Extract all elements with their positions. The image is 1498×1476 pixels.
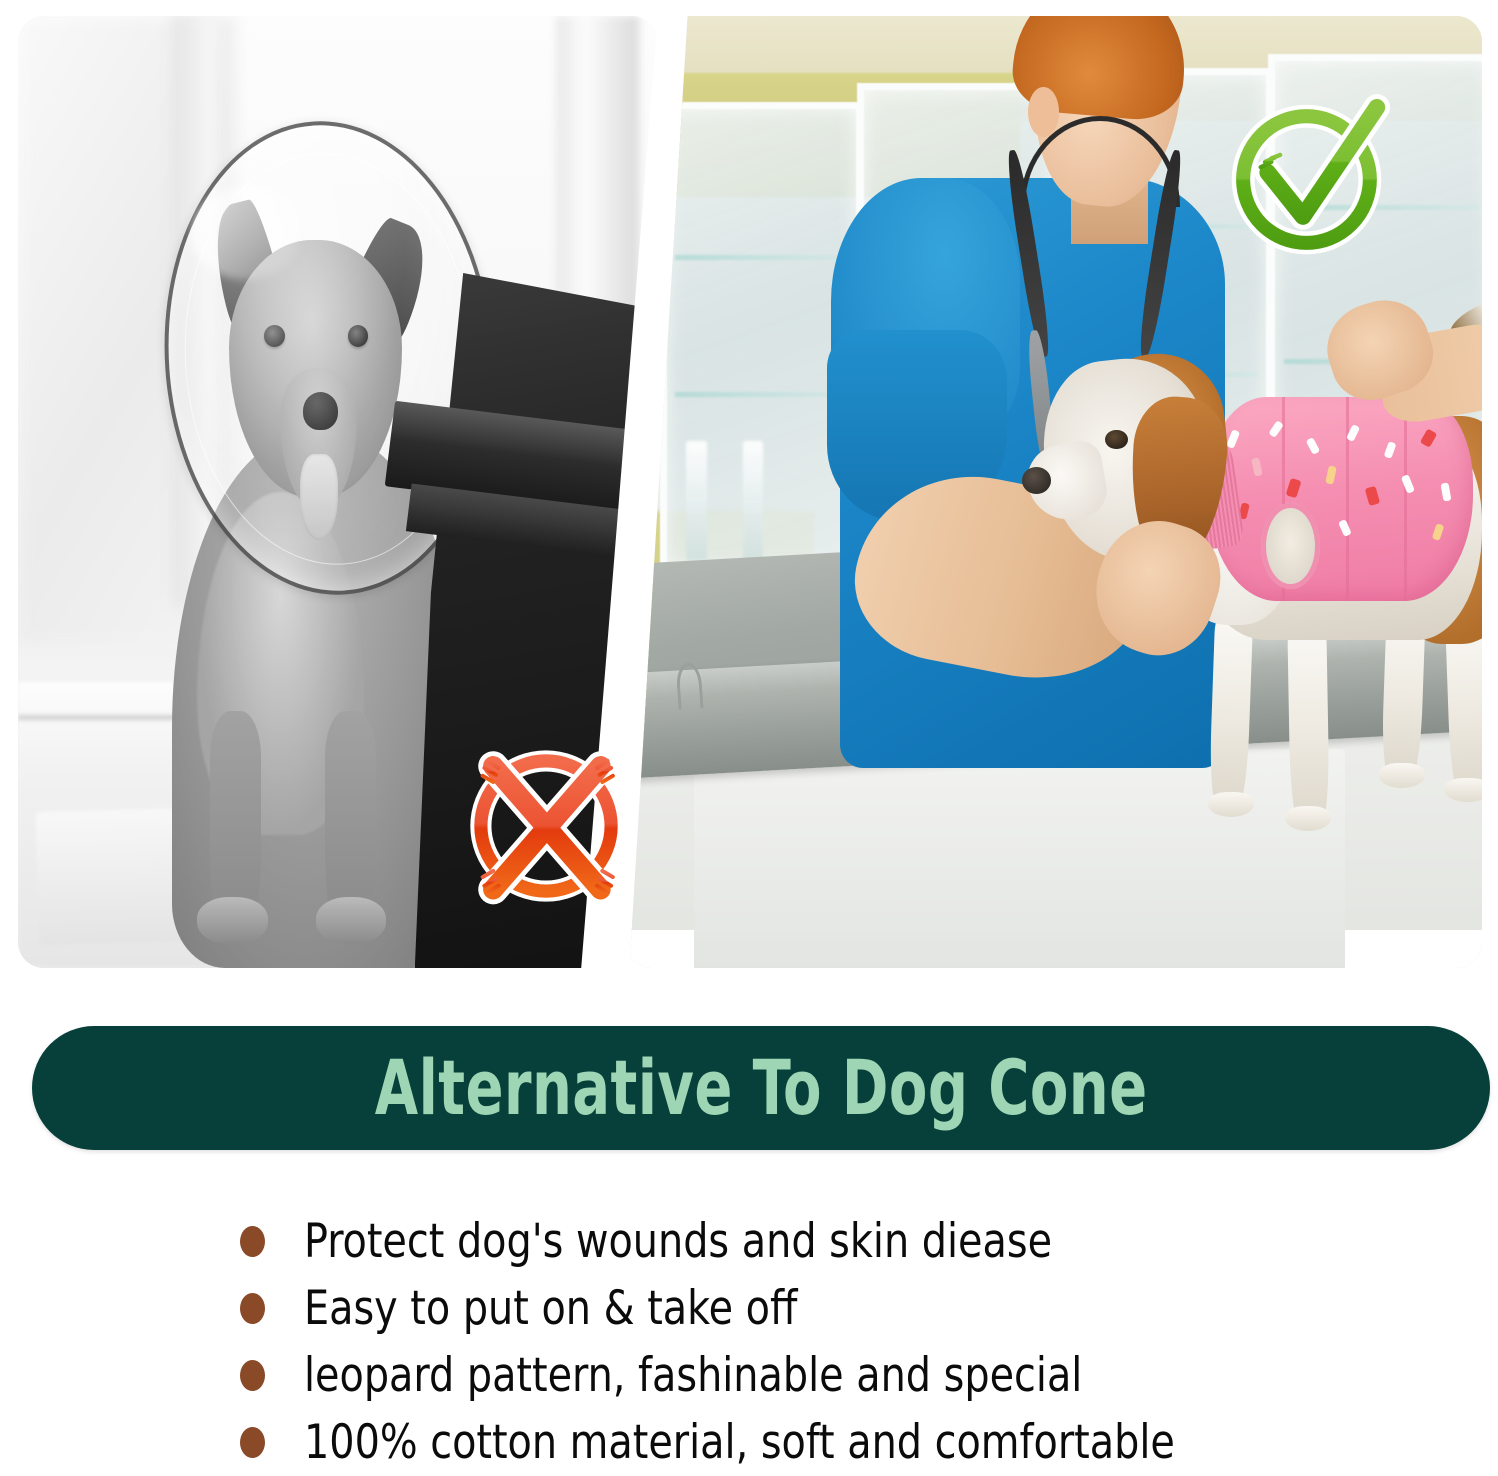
dog-paw-left: [197, 897, 267, 945]
pink-recovery-suit: [1208, 397, 1473, 602]
cross-x-badge: [458, 738, 634, 914]
beagle-paw: [1285, 806, 1331, 831]
list-item: Protect dog's wounds and skin diease: [240, 1208, 1460, 1275]
feature-list: Protect dog's wounds and skin diease Eas…: [240, 1208, 1460, 1476]
feature-text: Easy to put on & take off: [304, 1284, 797, 1333]
bullet-dot-icon: [240, 1293, 265, 1324]
exam-table-base: [694, 749, 1345, 968]
dog-paw-right: [316, 897, 386, 945]
beagle-paw: [1208, 792, 1254, 817]
banner-title: Alternative To Dog Cone: [375, 1050, 1148, 1126]
feature-text: Protect dog's wounds and skin diease: [304, 1217, 1052, 1266]
list-item: 100% cotton material, soft and comfortab…: [240, 1409, 1460, 1476]
beagle-leg: [1288, 615, 1331, 825]
bullet-dot-icon: [240, 1226, 265, 1257]
comparison-photo-row: [0, 0, 1498, 1000]
list-item: leopard pattern, fashinable and special: [240, 1342, 1460, 1409]
check-mark-badge: [1222, 88, 1398, 264]
bullet-dot-icon: [240, 1360, 265, 1391]
beagle-eye: [1105, 430, 1127, 449]
bullet-dot-icon: [240, 1427, 265, 1458]
suit-armhole: [1261, 503, 1319, 589]
headline-banner: Alternative To Dog Cone: [32, 1026, 1490, 1150]
feature-text: leopard pattern, fashinable and special: [304, 1351, 1082, 1400]
product-infographic: Alternative To Dog Cone Protect dog's wo…: [0, 0, 1498, 1459]
feature-text: 100% cotton material, soft and comfortab…: [304, 1418, 1175, 1467]
list-item: Easy to put on & take off: [240, 1275, 1460, 1342]
vet-ear: [1028, 87, 1059, 137]
